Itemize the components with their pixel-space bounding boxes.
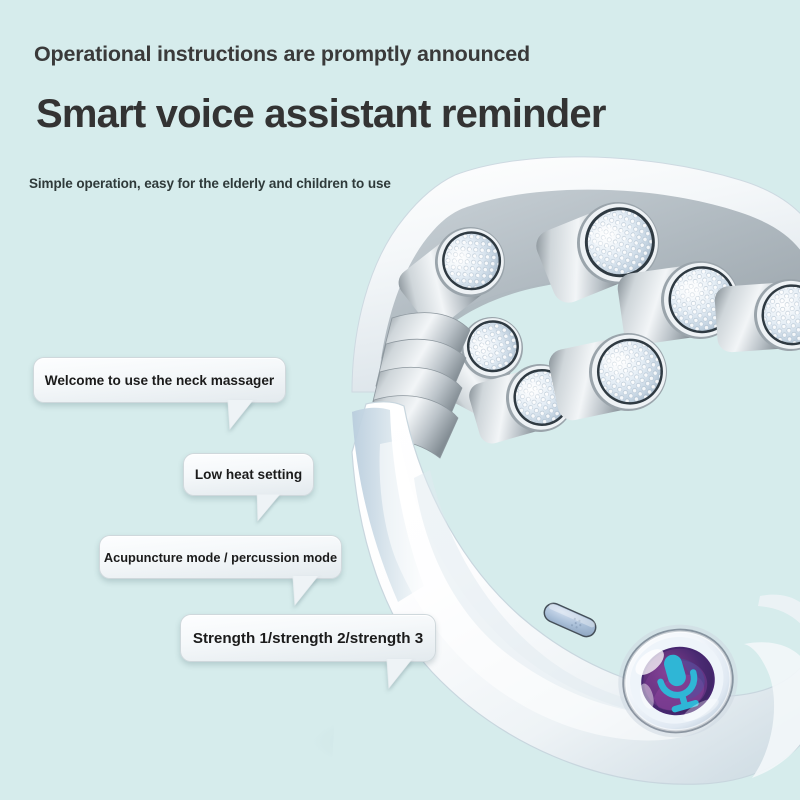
callout-label: Acupuncture mode / percussion mode (100, 550, 341, 565)
callout-label: Strength 1/strength 2/strength 3 (181, 630, 435, 647)
massage-node (714, 277, 800, 356)
callout-bubble-strength: Strength 1/strength 2/strength 3 (180, 614, 436, 662)
callout-label: Low heat setting (184, 467, 313, 482)
callout-bubble-welcome: Welcome to use the neck massager (33, 357, 286, 403)
callout-bubble-heat: Low heat setting (183, 453, 314, 496)
callout-label: Welcome to use the neck massager (34, 373, 285, 388)
indicator-slot (540, 599, 599, 640)
callout-bubble-mode: Acupuncture mode / percussion mode (99, 535, 342, 579)
promo-image: Operational instructions are promptly an… (0, 0, 800, 800)
